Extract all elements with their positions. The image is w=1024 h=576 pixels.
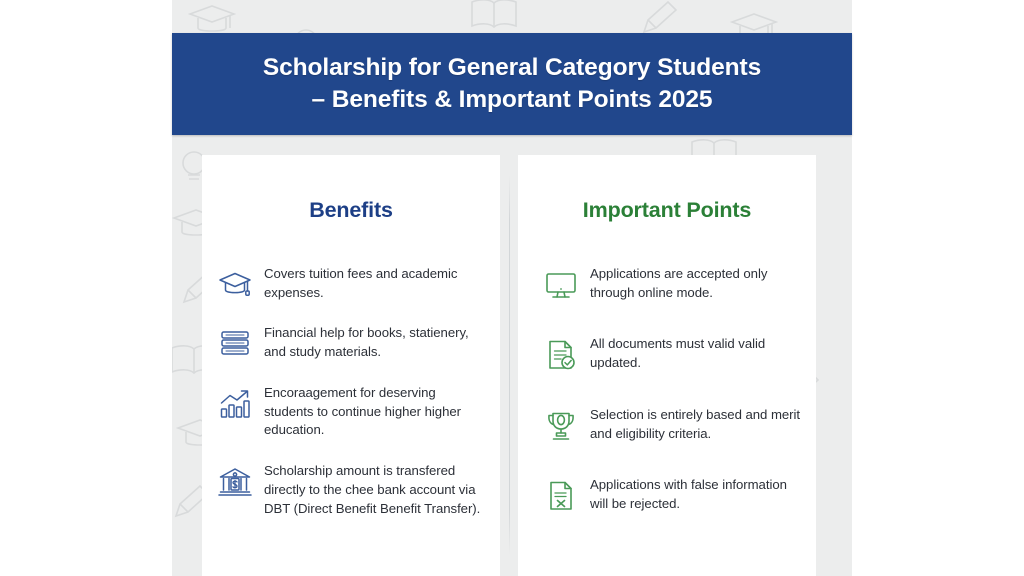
book-stack-icon bbox=[218, 327, 252, 361]
important-points-heading: Important Points bbox=[518, 155, 816, 223]
list-item-text: Encoraagement for deserving students to … bbox=[264, 383, 486, 440]
list-item-text: Selection is entirely based and merit an… bbox=[590, 405, 806, 443]
important-points-card: Important Points Applications are accept… bbox=[518, 155, 816, 576]
list-item: Selection is entirely based and merit an… bbox=[544, 405, 806, 443]
important-points-list: Applications are accepted only through o… bbox=[518, 223, 816, 514]
list-item: All documents must valid valid updated. bbox=[544, 334, 806, 372]
list-item: Scholarship amount is transfered directl… bbox=[218, 461, 486, 518]
poster-header: Scholarship for General Category Student… bbox=[172, 33, 852, 135]
list-item-text: Financial help for books, statienery, an… bbox=[264, 323, 486, 361]
list-item-text: Covers tuition fees and academic expense… bbox=[264, 264, 486, 302]
list-item: Financial help for books, statienery, an… bbox=[218, 323, 486, 361]
page-title: Scholarship for General Category Student… bbox=[249, 52, 775, 117]
list-item: Covers tuition fees and academic expense… bbox=[218, 264, 486, 302]
list-item-text: Applications are accepted only through o… bbox=[590, 264, 806, 302]
title-line-1: Scholarship for General Category Student… bbox=[263, 54, 761, 81]
title-line-2: – Benefits & Important Points 2025 bbox=[263, 84, 761, 116]
list-item-text: Applications with false information will… bbox=[590, 475, 806, 513]
monitor-icon bbox=[544, 268, 578, 302]
document-check-icon bbox=[544, 338, 578, 372]
benefits-card: Benefits Covers tuition fees and academi… bbox=[202, 155, 500, 576]
column-divider bbox=[509, 175, 510, 555]
list-item-text: Scholarship amount is transfered directl… bbox=[264, 461, 486, 518]
benefits-list: Covers tuition fees and academic expense… bbox=[202, 223, 500, 518]
list-item: Applications with false information will… bbox=[544, 475, 806, 513]
graduation-cap-icon bbox=[218, 268, 252, 302]
bank-icon bbox=[218, 465, 252, 499]
cards-container: Benefits Covers tuition fees and academi… bbox=[172, 155, 852, 576]
document-reject-icon bbox=[544, 479, 578, 513]
list-item-text: All documents must valid valid updated. bbox=[590, 334, 806, 372]
growth-chart-icon bbox=[218, 387, 252, 421]
benefits-heading: Benefits bbox=[202, 155, 500, 223]
infographic-poster: Scholarship for General Category Student… bbox=[0, 0, 1024, 576]
list-item: Encoraagement for deserving students to … bbox=[218, 383, 486, 440]
list-item: Applications are accepted only through o… bbox=[544, 264, 806, 302]
trophy-icon bbox=[544, 409, 578, 443]
